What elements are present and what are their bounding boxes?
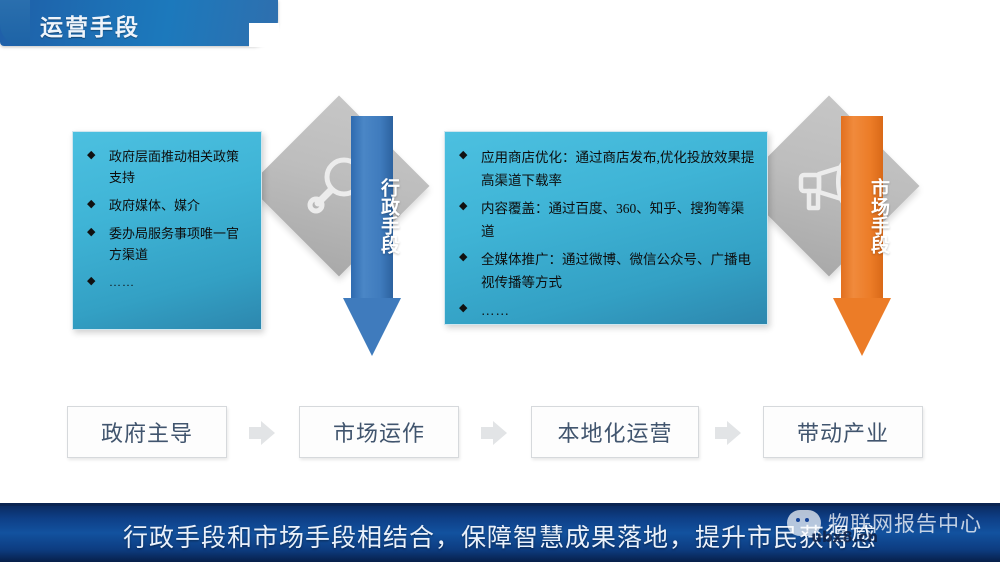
header-notch <box>0 0 30 46</box>
list-item: ◆ …… <box>459 299 755 322</box>
step-label: 本地化运营 <box>557 416 672 448</box>
step-box-drive-industry[interactable]: 带动产业 <box>763 406 923 458</box>
bullet-marker-icon: ◆ <box>459 197 481 215</box>
bullet-marker-icon: ◆ <box>87 195 109 213</box>
diamond-left <box>248 95 429 276</box>
bullet-marker-icon: ◆ <box>87 272 109 290</box>
page-title: 运营手段 <box>40 8 140 42</box>
administrative-measures-label: 行政手段 <box>343 178 401 254</box>
list-item-label: 应用商店优化：通过商店发布,优化投放效果提高渠道下载率 <box>481 146 755 192</box>
market-measures-arrow: 市场手段 <box>833 116 891 358</box>
list-item: ◆ …… <box>87 272 249 293</box>
arrow-head <box>343 298 401 356</box>
bullet-marker-icon: ◆ <box>87 146 109 164</box>
bullet-marker-icon: ◆ <box>87 223 109 241</box>
administrative-measures-card: ◆ 政府层面推动相关政策支持 ◆ 政府媒体、媒介 ◆ 委办局服务事项唯一官方渠道… <box>72 131 262 330</box>
bullet-marker-icon: ◆ <box>459 146 481 164</box>
arrow-label-text: 行政手段 <box>343 178 401 254</box>
market-measures-label: 市场手段 <box>833 178 891 254</box>
list-item: ◆ 政府媒体、媒介 <box>87 195 249 216</box>
list-item-label: 全媒体推广：通过微博、微信公众号、广播电视传播等方式 <box>481 248 755 294</box>
arrow-head <box>833 298 891 356</box>
step-label: 政府主导 <box>101 416 193 448</box>
bullet-marker-icon: ◆ <box>459 299 481 317</box>
right-arrow-icon <box>713 420 743 446</box>
step-box-government-led[interactable]: 政府主导 <box>67 406 227 458</box>
list-item: ◆ 内容覆盖：通过百度、360、知乎、搜狗等渠道 <box>459 197 755 243</box>
step-box-market-operation[interactable]: 市场运作 <box>299 406 459 458</box>
right-arrow-icon <box>479 420 509 446</box>
list-item: ◆ 政府层面推动相关政策支持 <box>87 146 249 188</box>
bullet-marker-icon: ◆ <box>459 248 481 266</box>
list-item: ◆ 委办局服务事项唯一官方渠道 <box>87 223 249 265</box>
step-label: 带动产业 <box>797 416 889 448</box>
watermark-url: ubx8.cn <box>811 528 878 546</box>
administrative-measures-arrow: 行政手段 <box>343 116 401 358</box>
list-item-label: 政府媒体、媒介 <box>109 195 249 216</box>
step-label: 市场运作 <box>333 416 425 448</box>
right-arrow-icon <box>247 420 277 446</box>
step-box-localized-operation[interactable]: 本地化运营 <box>531 406 699 458</box>
list-item-label: …… <box>481 299 755 322</box>
list-item: ◆ 全媒体推广：通过微博、微信公众号、广播电视传播等方式 <box>459 248 755 294</box>
arrow-label-text: 市场手段 <box>833 178 891 254</box>
list-item-label: 委办局服务事项唯一官方渠道 <box>109 223 249 265</box>
slide-canvas: 运营手段 ◆ 政府层面推动相关政策支持 ◆ 政府媒体、媒介 <box>0 0 1000 562</box>
market-measures-card: ◆ 应用商店优化：通过商店发布,优化投放效果提高渠道下载率 ◆ 内容覆盖：通过百… <box>444 131 768 325</box>
list-item-label: …… <box>109 272 249 293</box>
list-item-label: 内容覆盖：通过百度、360、知乎、搜狗等渠道 <box>481 197 755 243</box>
list-item: ◆ 应用商店优化：通过商店发布,优化投放效果提高渠道下载率 <box>459 146 755 192</box>
list-item-label: 政府层面推动相关政策支持 <box>109 146 249 188</box>
bottom-banner: 行政手段和市场手段相结合，保障智慧成果落地，提升市民获得感 物联网报告中心 ub… <box>0 503 1000 562</box>
